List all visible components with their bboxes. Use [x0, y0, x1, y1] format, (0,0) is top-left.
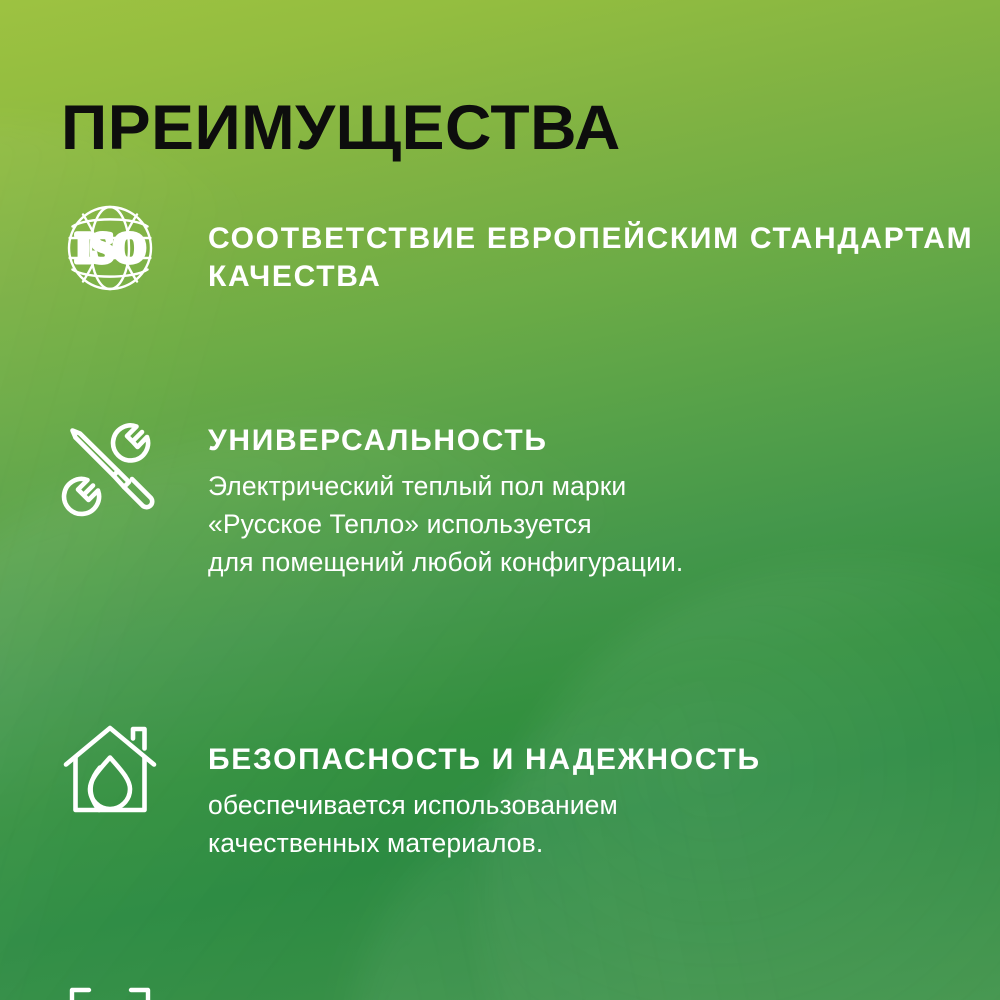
- certificate-award-icon: [58, 980, 170, 1000]
- page-title: ПРЕИМУЩЕСТВА: [61, 97, 621, 160]
- feature-heading: УНИВЕРСАЛЬНОСТЬ: [208, 422, 1000, 460]
- feature-item-iso: ISO СООТВЕТСТВИЕ ЕВРОПЕЙСКИМ СТАНДАРТАМ …: [0, 196, 1000, 300]
- feature-body: обеспечивается использованием качественн…: [208, 786, 1000, 862]
- iso-icon-label: ISO: [75, 226, 144, 272]
- feature-text-iso: СООТВЕТСТВИЕ ЕВРОПЕЙСКИМ СТАНДАРТАМ КАЧЕ…: [170, 196, 1000, 296]
- feature-text-warranty: ГАРАНТИЯ НА ПОЛ СОСТАВЛЯЕТ 50 ЛЕТ: [170, 980, 1000, 1000]
- feature-heading-line: СООТВЕТСТВИЕ ЕВРОПЕЙСКИМ: [208, 222, 740, 255]
- feature-heading-line: БЕЗОПАСНОСТЬ И НАДЕЖНОСТЬ: [208, 743, 761, 776]
- iso-globe-icon: ISO: [58, 196, 170, 300]
- feature-heading: СООТВЕТСТВИЕ ЕВРОПЕЙСКИМ СТАНДАРТАМ КАЧЕ…: [208, 220, 1000, 296]
- feature-body-line: «Русское Тепло» используется: [208, 505, 1000, 543]
- feature-heading-line: УНИВЕРСАЛЬНОСТЬ: [208, 424, 548, 457]
- feature-body-line: обеспечивается использованием: [208, 786, 1000, 824]
- screwdriver-wrench-icon: [58, 416, 170, 520]
- feature-list: ISO СООТВЕТСТВИЕ ЕВРОПЕЙСКИМ СТАНДАРТАМ …: [0, 196, 1000, 1000]
- feature-body-line: Электрический теплый пол марки: [208, 467, 1000, 505]
- feature-text-universality: УНИВЕРСАЛЬНОСТЬ Электрический теплый пол…: [170, 416, 1000, 582]
- feature-item-warranty: ГАРАНТИЯ НА ПОЛ СОСТАВЛЯЕТ 50 ЛЕТ: [0, 980, 1000, 1000]
- feature-body: Электрический теплый пол марки «Русское …: [208, 467, 1000, 581]
- feature-item-safety: БЕЗОПАСНОСТЬ И НАДЕЖНОСТЬ обеспечивается…: [0, 717, 1000, 862]
- feature-heading: БЕЗОПАСНОСТЬ И НАДЕЖНОСТЬ: [208, 741, 1000, 779]
- feature-body-line: качественных материалов.: [208, 824, 1000, 862]
- feature-item-universality: УНИВЕРСАЛЬНОСТЬ Электрический теплый пол…: [0, 416, 1000, 582]
- feature-body-line: для помещений любой конфигурации.: [208, 543, 1000, 581]
- feature-text-safety: БЕЗОПАСНОСТЬ И НАДЕЖНОСТЬ обеспечивается…: [170, 717, 1000, 862]
- house-flame-icon: [58, 717, 170, 821]
- advantages-poster: ПРЕИМУЩЕСТВА: [0, 0, 1000, 1000]
